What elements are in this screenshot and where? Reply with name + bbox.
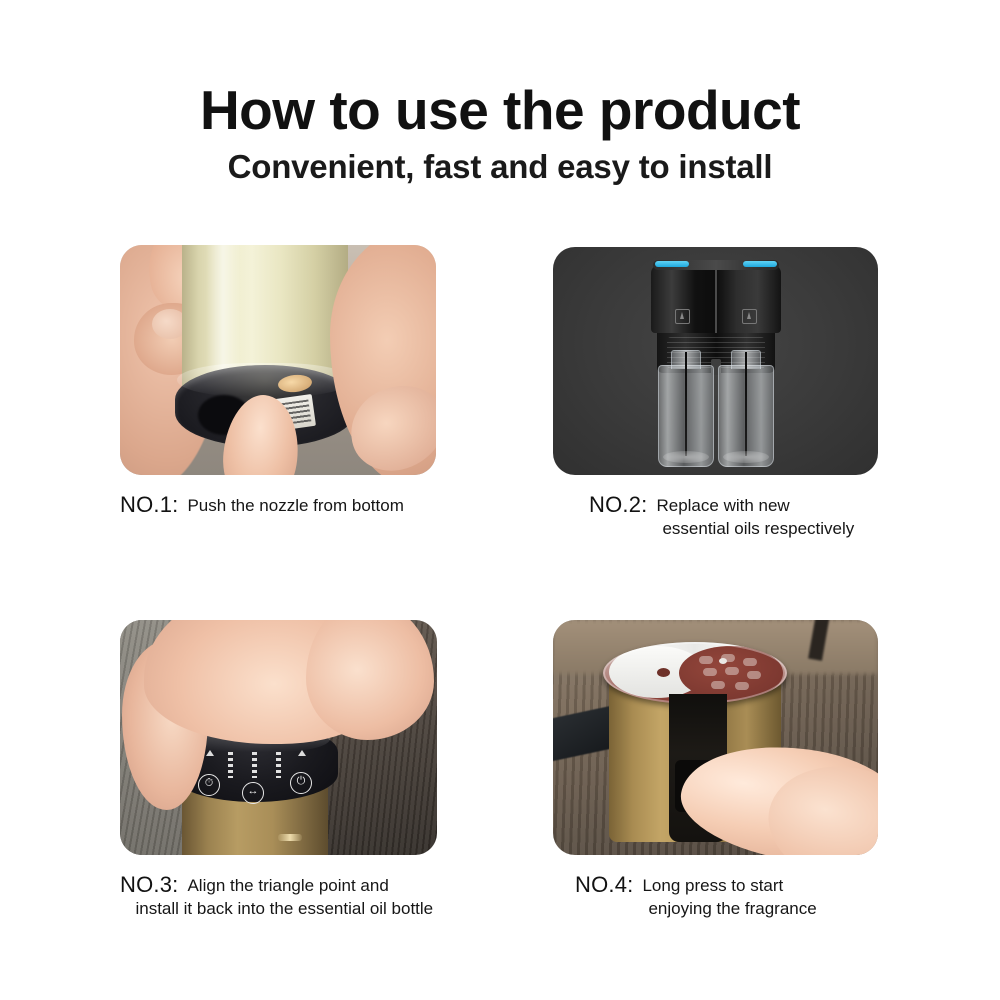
step-4-photo xyxy=(553,620,878,855)
step-2-number: NO.2: xyxy=(589,492,647,518)
step-1-number: NO.1: xyxy=(120,492,178,518)
step-3-number: NO.3: xyxy=(120,872,178,898)
step-2-line-2: essential oils respectively xyxy=(662,518,854,541)
step-1-photo xyxy=(120,245,436,475)
page-subtitle: Convenient, fast and easy to install xyxy=(0,148,1000,186)
infographic-page: How to use the product Convenient, fast … xyxy=(0,0,1000,1000)
step-4-text: Long press to start enjoying the fragran… xyxy=(642,875,816,921)
suction-straw xyxy=(685,352,687,456)
step-3-line-2: install it back into the essential oil b… xyxy=(135,898,433,921)
bottle-base-highlight xyxy=(723,451,769,463)
bottle-base-highlight xyxy=(663,451,709,463)
page-title: How to use the product xyxy=(0,78,1000,142)
step-2-line-1: Replace with new xyxy=(656,495,854,518)
step-3: ⏱ ↔ ⏻ xyxy=(120,620,437,921)
step-4-line-1: Long press to start xyxy=(642,875,816,898)
cyan-accent-left xyxy=(655,261,689,267)
step-4-line-2: enjoying the fragrance xyxy=(648,898,816,921)
step-3-caption: NO.3: Align the triangle point and insta… xyxy=(120,872,437,921)
twin-cap xyxy=(651,265,781,333)
cap-center-split xyxy=(715,263,717,333)
step-1: NO.1: Push the nozzle from bottom xyxy=(120,245,436,518)
warning-triangle-icon-left xyxy=(675,309,690,324)
step-1-text: Push the nozzle from bottom xyxy=(187,495,403,518)
oil-bottle-right xyxy=(718,365,774,467)
step-1-line-1: Push the nozzle from bottom xyxy=(187,495,403,518)
oil-bottle-left xyxy=(658,365,714,467)
step-2-photo xyxy=(553,247,878,475)
step-2-text: Replace with new essential oils respecti… xyxy=(656,495,854,541)
step-3-line-1: Align the triangle point and xyxy=(187,875,433,898)
step-2-caption: NO.2: Replace with new essential oils re… xyxy=(589,492,878,541)
step-4: NO.4: Long press to start enjoying the f… xyxy=(553,620,878,921)
step-2: NO.2: Replace with new essential oils re… xyxy=(553,247,878,541)
base-rim-highlight xyxy=(177,363,353,397)
step-4-caption: NO.4: Long press to start enjoying the f… xyxy=(575,872,878,921)
right-fingers xyxy=(306,620,434,740)
step-1-caption: NO.1: Push the nozzle from bottom xyxy=(120,492,436,518)
warning-triangle-icon-right xyxy=(742,309,757,324)
oil-bottles xyxy=(658,365,774,467)
cyan-accent-right xyxy=(743,261,777,267)
suction-straw xyxy=(745,352,747,456)
step-3-text: Align the triangle point and install it … xyxy=(187,875,433,921)
step-3-photo: ⏱ ↔ ⏻ xyxy=(120,620,437,855)
step-4-number: NO.4: xyxy=(575,872,633,898)
